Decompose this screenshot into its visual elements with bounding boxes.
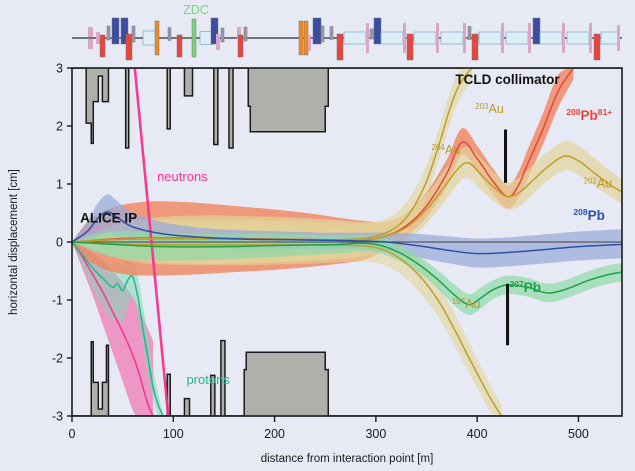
quadrupole-magnet	[238, 35, 243, 57]
corrector-magnet	[403, 23, 406, 53]
beam-element	[132, 26, 135, 42]
y-tick-label: 2	[56, 120, 63, 134]
drift-chamber	[414, 32, 436, 44]
element-symbol: Au	[445, 143, 460, 157]
annotation-protons: protons	[186, 372, 230, 387]
charge-state: 81+	[598, 107, 612, 117]
y-tick-label: 3	[56, 62, 63, 76]
x-axis-ticks: 0100200300400500	[69, 416, 589, 441]
element-symbol: Au	[465, 297, 480, 311]
corrector-magnet	[463, 23, 466, 53]
quadrupole-magnet	[100, 35, 105, 57]
beam-element	[168, 28, 171, 41]
y-tick-label: 1	[56, 178, 63, 192]
y-tick-label: -3	[52, 410, 63, 424]
accelerator-lattice-diagram: ZDC	[0, 0, 635, 62]
element-symbol: Au	[488, 102, 503, 116]
quadrupole-magnet	[472, 34, 478, 60]
x-axis-label: distance from interaction point [m]	[261, 453, 434, 465]
x-tick-label: 100	[163, 427, 184, 441]
corrector-magnet	[88, 27, 93, 37]
y-tick-label: 0	[56, 236, 63, 250]
x-tick-label: 0	[69, 427, 76, 441]
beam-element	[107, 26, 110, 40]
corrector-magnet	[528, 23, 531, 53]
beam-element	[330, 27, 333, 40]
corrector-magnet	[96, 32, 100, 44]
mass-number: 208	[573, 207, 587, 217]
kicker-magnet	[155, 21, 159, 55]
mass-number: 204	[432, 142, 446, 151]
dipole-magnet	[112, 18, 119, 44]
y-axis-ticks: -3-2-10123	[52, 62, 72, 424]
drift-chamber	[441, 32, 463, 44]
mass-number: 207	[510, 279, 524, 289]
x-tick-label: 200	[264, 427, 285, 441]
corrector-magnet	[308, 35, 311, 51]
mass-number: 203	[475, 102, 489, 111]
dipole-magnet	[313, 18, 321, 44]
corrector-magnet	[562, 23, 565, 53]
quadrupole-magnet	[594, 34, 600, 60]
zdc-label: ZDC	[183, 3, 209, 17]
mass-number: 202	[584, 176, 598, 185]
drift-chamber	[479, 32, 501, 44]
corrector-magnet	[436, 23, 439, 53]
beam-element	[370, 29, 374, 39]
annotation-tcld-collimator: TCLD collimator	[455, 72, 560, 87]
kicker-magnet	[299, 21, 303, 55]
mass-number: 197	[452, 297, 466, 306]
corrector-magnet	[216, 34, 220, 50]
x-tick-label: 300	[365, 427, 386, 441]
beam-trajectory-chart: -3-2-10123 0100200300400500 horizontal d…	[0, 62, 635, 471]
kicker-magnet	[304, 21, 308, 55]
quadrupole-magnet	[407, 34, 413, 60]
beam-element	[468, 27, 471, 40]
drift-chamber	[381, 32, 403, 44]
y-tick-label: -2	[52, 352, 63, 366]
corrector-magnet	[589, 23, 592, 53]
x-tick-label: 400	[467, 427, 488, 441]
dipole-magnet	[533, 18, 540, 44]
element-symbol: Au	[597, 176, 612, 190]
corrector-magnet	[501, 23, 504, 53]
quadrupole-magnet	[126, 34, 132, 60]
y-tick-label: -1	[52, 294, 63, 308]
annotation-alice-ip: ALICE IP	[80, 210, 137, 225]
drift-chamber	[344, 32, 366, 44]
lattice-elements	[88, 18, 620, 60]
drift-chamber	[567, 32, 589, 44]
drift-chamber	[506, 32, 528, 44]
corrector-magnet	[617, 25, 620, 51]
quadrupole-magnet	[337, 34, 343, 60]
figure-root: ZDC -3-2-10123 0100200300400500 horizont…	[0, 0, 635, 471]
beam-element	[321, 26, 324, 42]
drift-chamber	[540, 32, 562, 44]
element-symbol: Pb	[580, 108, 597, 123]
zdc-detector	[192, 19, 196, 57]
mass-number: 208	[566, 107, 580, 117]
y-axis-label: horizontal displacement [cm]	[8, 169, 20, 315]
drift-chamber	[601, 32, 619, 44]
corrector-magnet	[88, 39, 93, 49]
dipole-magnet	[374, 18, 381, 44]
x-tick-label: 500	[568, 427, 589, 441]
element-symbol: Pb	[524, 280, 541, 295]
corrector-magnet	[366, 23, 369, 53]
annotation-neutrons: neutrons	[157, 169, 208, 184]
element-symbol: Pb	[588, 208, 605, 223]
beam-element	[244, 27, 247, 41]
quadrupole-magnet	[177, 35, 182, 57]
beam-element	[221, 28, 224, 42]
